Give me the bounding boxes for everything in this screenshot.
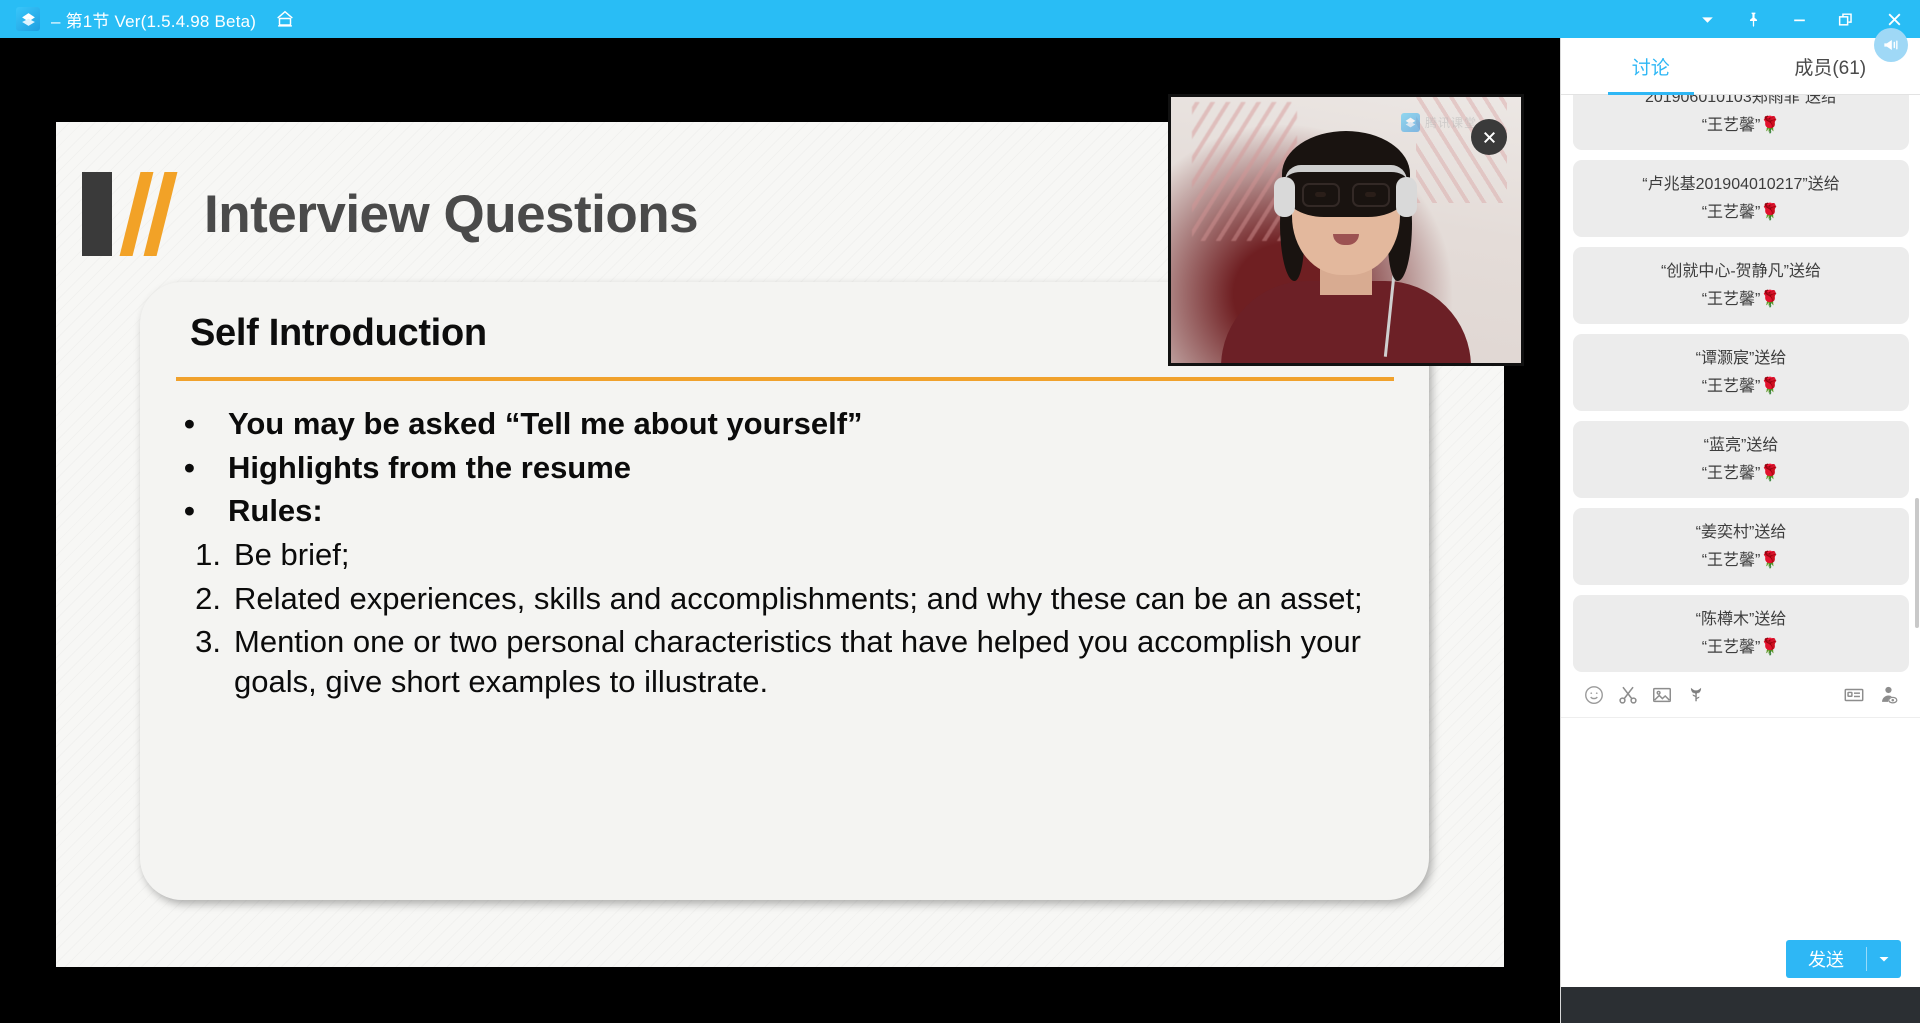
rose-icon: 🌹 <box>1760 117 1780 134</box>
rose-icon: 🌹 <box>1760 378 1780 395</box>
list-marker: 1. <box>176 535 234 575</box>
chat-send-row: 发送 <box>1561 931 1920 987</box>
slide-list-item: 1. Be brief; <box>176 535 1401 575</box>
chat-input[interactable] <box>1561 719 1920 949</box>
slide-decor-bar-icon <box>82 172 112 256</box>
pin-icon[interactable] <box>1730 0 1776 38</box>
chat-message: “陈樽木”送给 “王艺馨”🌹 <box>1573 595 1909 672</box>
flower-gift-icon[interactable] <box>1679 678 1713 712</box>
chat-panel: 讨论 成员(61) 201906010103郑雨菲”送给 “王艺馨”🌹 “卢兆基… <box>1560 38 1920 1023</box>
bullet-text: Rules: <box>228 491 1401 531</box>
chat-message-line1: “谭灏宸”送给 <box>1587 345 1895 373</box>
chat-message-line1: “蓝亮”送给 <box>1587 432 1895 460</box>
card-icon[interactable] <box>1837 678 1871 712</box>
scissors-icon[interactable] <box>1611 678 1645 712</box>
tab-discussion[interactable]: 讨论 <box>1561 38 1741 94</box>
chat-message-line2: “王艺馨”🌹 <box>1587 199 1895 227</box>
close-icon[interactable] <box>1471 119 1507 155</box>
slide-title: Interview Questions <box>204 184 698 245</box>
bullet-marker: • <box>176 448 228 488</box>
chat-message-line1: 201906010103郑雨菲”送给 <box>1587 95 1895 112</box>
chat-message-line2: “王艺馨”🌹 <box>1587 634 1895 662</box>
chat-message: “谭灏宸”送给 “王艺馨”🌹 <box>1573 334 1909 411</box>
slide-bullet: • Rules: <box>176 491 1401 531</box>
presenter-figure <box>1196 152 1496 366</box>
chat-message-line1: “姜奕村”送给 <box>1587 519 1895 547</box>
rose-icon: 🌹 <box>1760 639 1780 656</box>
emoji-icon[interactable] <box>1577 678 1611 712</box>
chat-message: “姜奕村”送给 “王艺馨”🌹 <box>1573 508 1909 585</box>
title-bar: – 第1节 Ver(1.5.4.98 Beta) <box>0 0 1920 38</box>
chat-message-line2: “王艺馨”🌹 <box>1587 547 1895 575</box>
slide-decor-slashes-icon <box>126 172 182 256</box>
chat-tabs: 讨论 成员(61) <box>1561 38 1920 95</box>
slide-bullet: • Highlights from the resume <box>176 448 1401 488</box>
list-marker: 3. <box>176 622 234 701</box>
list-text: Be brief; <box>234 535 1401 575</box>
list-text: Related experiences, skills and accompli… <box>234 579 1401 619</box>
chat-message-line2: “王艺馨”🌹 <box>1587 286 1895 314</box>
list-marker: 2. <box>176 579 234 619</box>
window-title: – 第1节 Ver(1.5.4.98 Beta) <box>51 7 256 32</box>
rose-icon: 🌹 <box>1760 204 1780 221</box>
chat-message: 201906010103郑雨菲”送给 “王艺馨”🌹 <box>1573 95 1909 150</box>
chat-message-line2: “王艺馨”🌹 <box>1587 460 1895 488</box>
megaphone-icon[interactable] <box>1874 28 1908 62</box>
chat-message-line1: “卢兆基201904010217”送给 <box>1587 171 1895 199</box>
card-body: • You may be asked “Tell me about yourse… <box>176 404 1401 706</box>
slide-title-row: Interview Questions <box>82 172 698 256</box>
send-button-label: 发送 <box>1786 946 1866 972</box>
person-view-icon[interactable] <box>1871 678 1905 712</box>
chevron-down-icon[interactable] <box>1867 953 1901 965</box>
chat-toolbar <box>1561 672 1920 718</box>
card-divider <box>176 377 1394 381</box>
image-icon[interactable] <box>1645 678 1679 712</box>
bullet-text: You may be asked “Tell me about yourself… <box>228 404 1401 444</box>
chat-message-line2: “王艺馨”🌹 <box>1587 373 1895 401</box>
chat-message-line1: “创就中心-贺静凡”送给 <box>1587 258 1895 286</box>
send-button[interactable]: 发送 <box>1786 940 1901 978</box>
chat-message: “创就中心-贺静凡”送给 “王艺馨”🌹 <box>1573 247 1909 324</box>
rose-icon: 🌹 <box>1760 552 1780 569</box>
bullet-marker: • <box>176 491 228 531</box>
dropdown-icon[interactable] <box>1684 0 1730 38</box>
bullet-marker: • <box>176 404 228 444</box>
panel-footer <box>1561 987 1920 1023</box>
restore-icon[interactable] <box>1822 0 1868 38</box>
presentation-stage: Interview Questions Self Introduction • … <box>0 38 1560 985</box>
chat-message: “卢兆基201904010217”送给 “王艺馨”🌹 <box>1573 160 1909 237</box>
bullet-text: Highlights from the resume <box>228 448 1401 488</box>
slide-bullet: • You may be asked “Tell me about yourse… <box>176 404 1401 444</box>
app-logo-icon <box>1401 113 1420 132</box>
chat-message-line2: “王艺馨”🌹 <box>1587 112 1895 140</box>
chat-message-list[interactable]: 201906010103郑雨菲”送给 “王艺馨”🌹 “卢兆基2019040102… <box>1561 95 1920 672</box>
chat-composer[interactable] <box>1561 719 1920 949</box>
slide-list-item: 3. Mention one or two personal character… <box>176 622 1401 701</box>
chat-message: “蓝亮”送给 “王艺馨”🌹 <box>1573 421 1909 498</box>
minimize-icon[interactable] <box>1776 0 1822 38</box>
rose-icon: 🌹 <box>1760 465 1780 482</box>
presenter-video-window[interactable]: 腾讯课堂 <box>1168 94 1524 366</box>
card-title: Self Introduction <box>190 312 487 355</box>
slide-card: Self Introduction • You may be asked “Te… <box>140 282 1429 900</box>
list-text: Mention one or two personal characterist… <box>234 622 1401 701</box>
app-logo-icon <box>16 7 40 31</box>
slide-list-item: 2. Related experiences, skills and accom… <box>176 579 1401 619</box>
chat-scrollbar[interactable] <box>1915 498 1919 628</box>
chat-message-line1: “陈樽木”送给 <box>1587 606 1895 634</box>
watermark-text: 腾讯课堂 <box>1425 114 1477 131</box>
home-icon[interactable] <box>272 6 298 32</box>
video-watermark: 腾讯课堂 <box>1401 113 1477 132</box>
meeting-window: – 第1节 Ver(1.5.4.98 Beta) <box>0 0 1920 1023</box>
rose-icon: 🌹 <box>1760 291 1780 308</box>
